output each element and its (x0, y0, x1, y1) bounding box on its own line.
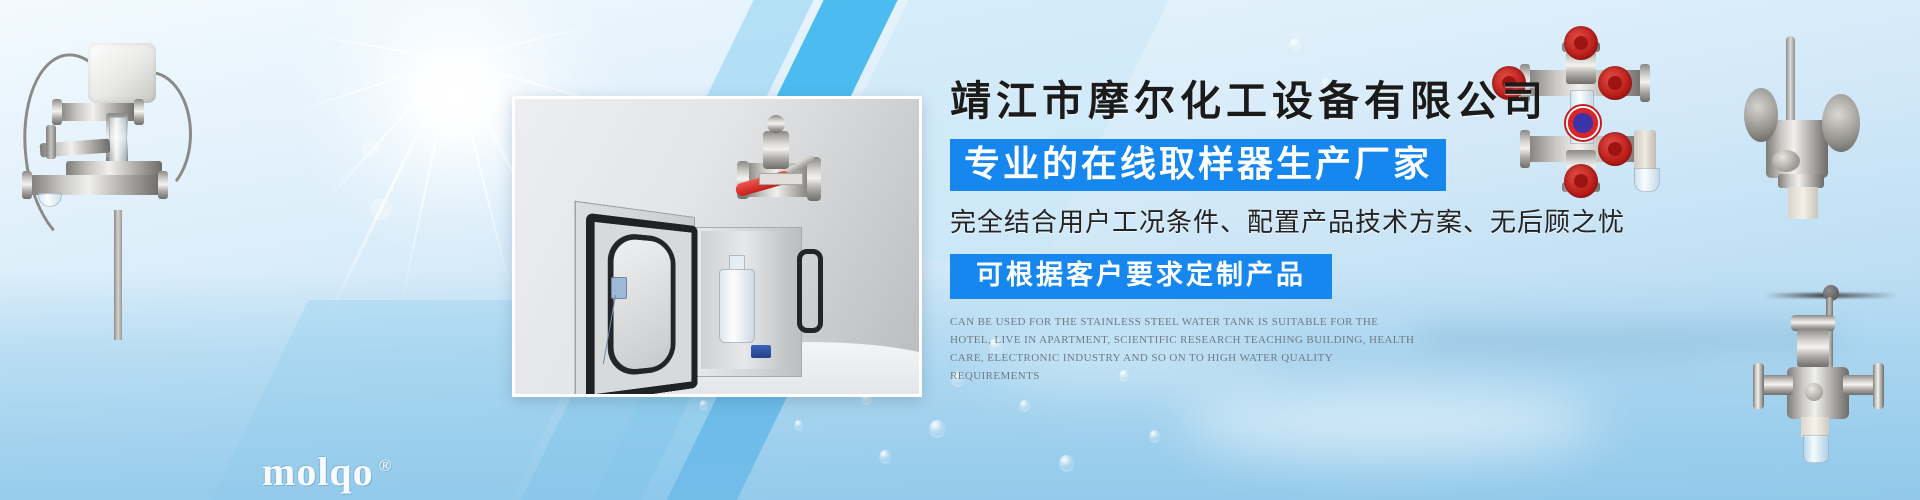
cabinet-side-handle (797, 249, 823, 333)
headline-highlight: 专业的在线取样器生产厂家 (950, 139, 1446, 191)
watermark-logo: molqo® (262, 448, 393, 495)
mount-plate (1778, 174, 1824, 188)
logo-text: molqo (262, 449, 374, 494)
pipe-stub (1843, 375, 1877, 395)
sight-glass (109, 117, 127, 163)
pipe-stub (1759, 375, 1793, 395)
valve-bonnet (763, 131, 789, 169)
brand-emblem-icon (1805, 383, 1823, 401)
flange (52, 99, 62, 125)
sun-ray (305, 33, 453, 61)
valve-knob (767, 115, 785, 133)
valve-lever (1786, 36, 1795, 132)
sun-ray (318, 59, 453, 209)
sample-cup (1803, 435, 1829, 463)
sun-ray (400, 60, 454, 305)
brand-emblem-icon (1772, 150, 1800, 172)
flange (1753, 363, 1764, 409)
bokeh-dot (418, 110, 430, 122)
cabinet-door (575, 201, 695, 397)
lever-valve-render (1700, 22, 1920, 237)
water-droplet (880, 450, 890, 462)
flange (158, 171, 168, 199)
valve-body (30, 175, 160, 195)
relief-valve (46, 125, 56, 159)
flange (1822, 94, 1860, 152)
callout-badge: 可根据客户要求定制产品 (950, 254, 1332, 298)
water-droplet (1020, 400, 1029, 410)
sun-ray (452, 60, 512, 293)
sub-headline: 完全结合用户工况条件、配置产品技术方案、无后顾之忧 (950, 206, 1730, 239)
banner-copy: 靖江市摩尔化工设备有限公司 专业的在线取样器生产厂家 完全结合用户工况条件、配置… (950, 78, 1730, 385)
promo-banner: 靖江市摩尔化工设备有限公司 专业的在线取样器生产厂家 完全结合用户工况条件、配置… (0, 0, 1920, 500)
valve-neck (1797, 329, 1829, 367)
water-droplet (700, 400, 707, 409)
sun-ray (321, 59, 455, 330)
sun-ray (286, 59, 453, 115)
water-droplet (1150, 430, 1159, 441)
product-photo (512, 96, 922, 397)
mounting-pole (114, 210, 122, 340)
flange (134, 99, 144, 125)
red-handwheel-icon (1564, 26, 1598, 60)
sample-bottle (719, 269, 755, 343)
water-droplet (1290, 38, 1300, 50)
blue-bottle-cap (751, 345, 771, 358)
registered-mark-icon: ® (379, 456, 393, 475)
company-name: 靖江市摩尔化工设备有限公司 (950, 78, 1730, 125)
sun-ray (453, 23, 599, 61)
bokeh-dot (362, 140, 380, 158)
sample-outlet (1788, 187, 1818, 219)
flange (22, 171, 32, 199)
left-valve-assembly-render (10, 25, 190, 325)
fine-print: CAN BE USED FOR THE STAINLESS STEEL WATE… (950, 313, 1420, 386)
bokeh-dot (370, 198, 392, 220)
flange (1744, 88, 1778, 142)
cabinet-key (611, 277, 627, 299)
bottom-valve-render (1745, 275, 1920, 455)
water-droplet (795, 420, 802, 429)
water-haze (1180, 388, 1600, 458)
flange (1873, 363, 1884, 409)
water-droplet (1060, 455, 1073, 470)
water-droplet (930, 420, 944, 436)
sample-adapter (1801, 417, 1829, 437)
top-sampling-valve (711, 111, 831, 231)
valve-nameplate (759, 173, 803, 185)
sensor-housing (88, 43, 156, 103)
door-window (608, 231, 676, 377)
